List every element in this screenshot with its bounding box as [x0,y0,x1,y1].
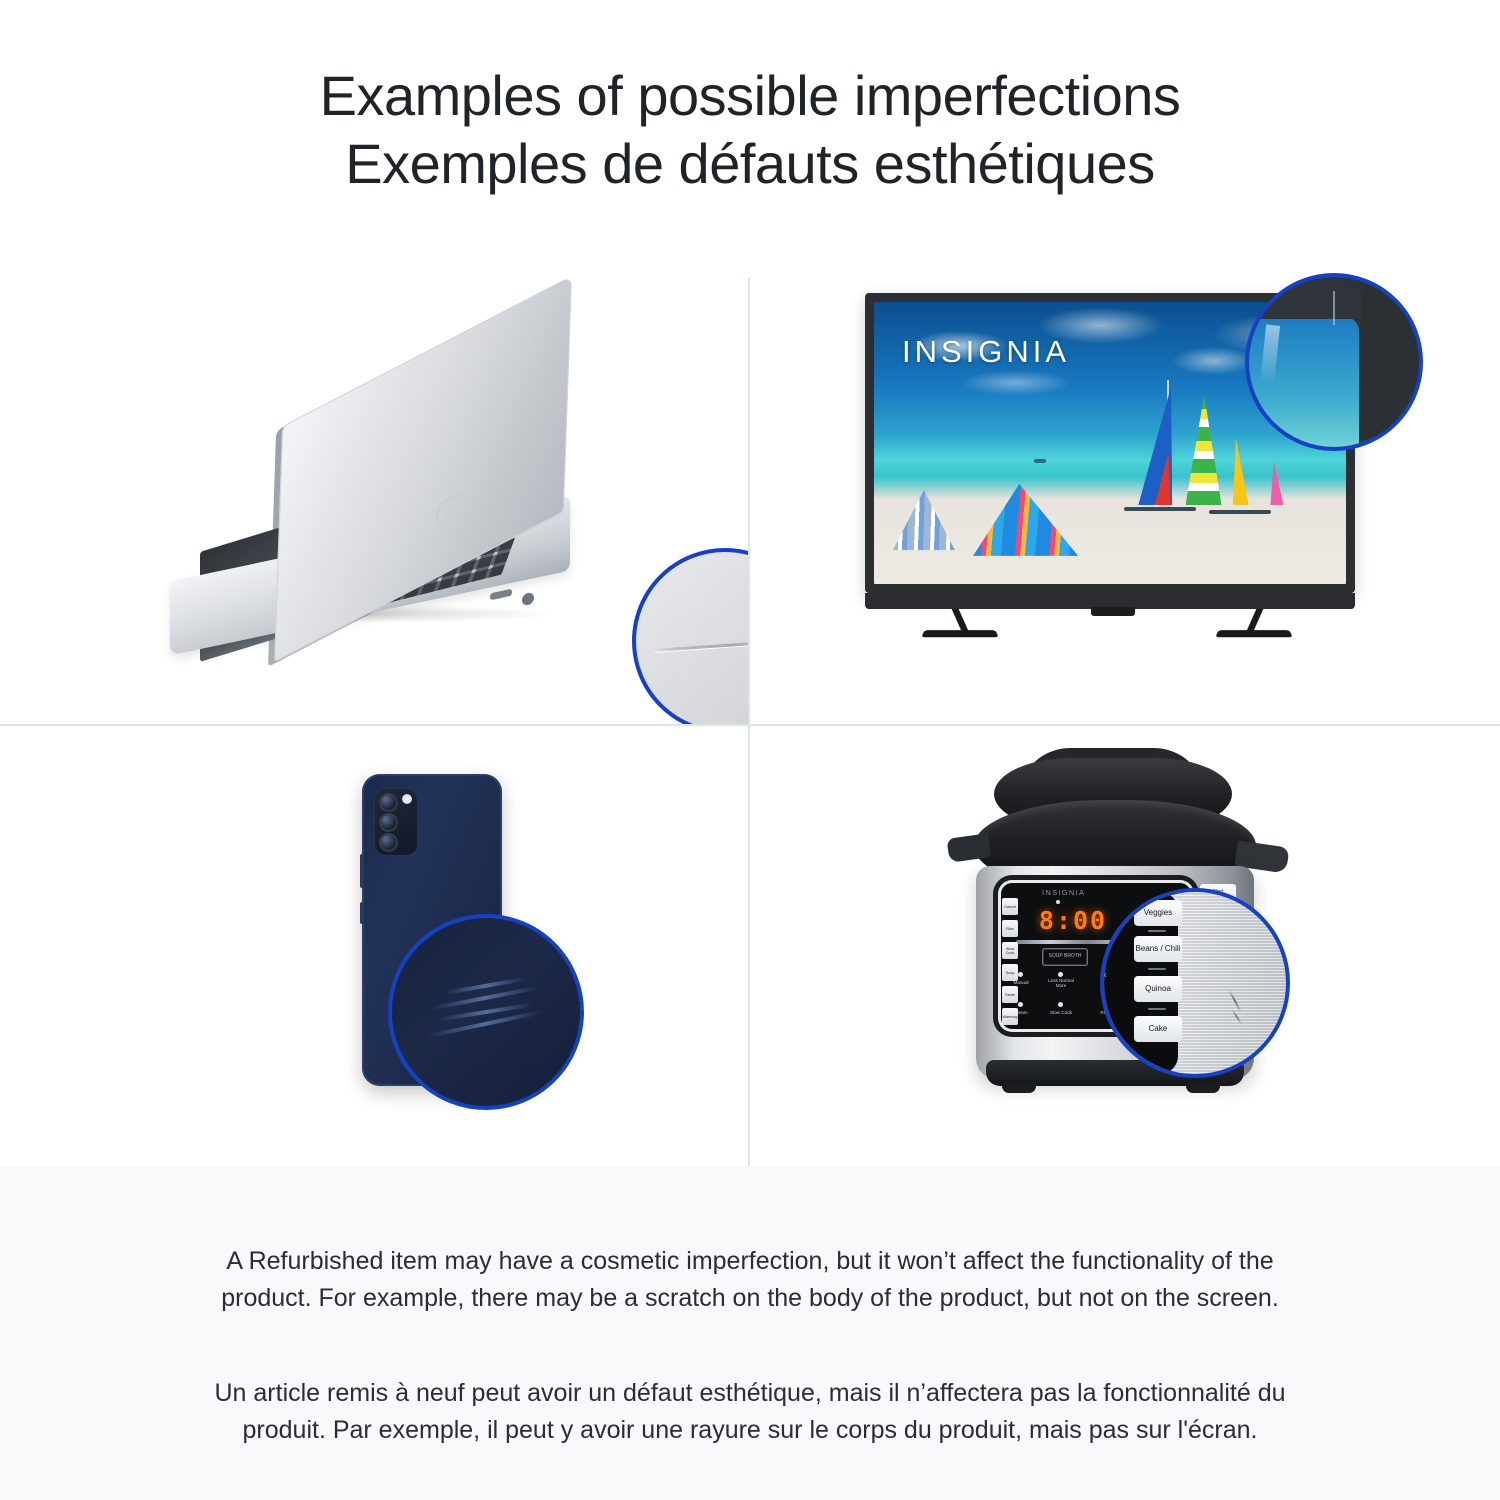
tv-illustration: INSIGNIA [750,258,1500,724]
cooker-button-rice[interactable]: Rice [1002,920,1018,937]
magnified-button-beans-chili[interactable]: Beans / Chili [1134,936,1182,962]
footer-disclaimer: A Refurbished item may have a cosmetic i… [0,1166,1500,1500]
camera-lens-1 [379,793,398,812]
cooker-pressure-select-button[interactable]: SOUP BROTH [1042,948,1088,966]
button-separator [1148,1008,1166,1010]
magnified-bezel-right [1361,289,1419,439]
distant-boat [1034,459,1046,463]
cooker-indicator-dot [1056,900,1060,904]
boat-hull-1 [1124,507,1196,511]
cooker-button-saute[interactable]: Saute [1002,986,1018,1003]
cooker-left-button-column: Cancel Rice Slow Cook Soup Saute Warming [1002,898,1018,1044]
cell-television: INSIGNIA [750,258,1500,724]
magnifier-circle-phone [388,914,584,1110]
button-separator [1148,930,1166,932]
cooker-label: Less Normal More [1048,978,1074,988]
cooker-button-slow-cook[interactable]: Slow Cook [1002,942,1018,959]
scratch-mark [1333,291,1335,325]
laptop-usb-port-icon [490,589,512,601]
laptop-product-image [160,353,600,643]
cell-smartphone [0,726,748,1166]
cooker-product-image: INSIGNIA 8:00 SOUP BROTH Manual [940,748,1320,1138]
cell-pressure-cooker: INSIGNIA 8:00 SOUP BROTH Manual [750,726,1500,1166]
laptop-illustration [0,258,748,724]
disclaimer-paragraph-en: A Refurbished item may have a cosmetic i… [185,1243,1315,1316]
disclaimer-paragraph-fr: Un article remis à neuf peut avoir un dé… [185,1375,1315,1448]
sail-yellow [1233,439,1249,505]
magnifier-circle-tv [1245,273,1423,451]
tv-screen-logo: INSIGNIA [902,334,1070,370]
cooker-foot-right [1186,1082,1220,1093]
cooker-label: Slow Cook [1048,1010,1074,1015]
tv-leg-left [923,609,997,649]
button-separator [1148,968,1166,970]
scratch-mark [654,639,748,652]
boat-hull-2 [1209,510,1271,514]
product-examples-grid: INSIGNIA [0,258,1500,1166]
cooker-lcd-display: 8:00 [1034,906,1112,934]
cooker-foot-left [1002,1082,1036,1093]
magnifier-circle-cooker: Delay Slow Cook Veggies Beans / Chili Qu… [1100,888,1290,1078]
camera-lens-2 [379,813,398,832]
page-title-fr: Exemples de défauts esthétiques [345,130,1154,198]
cell-laptop [0,258,748,724]
magnifier-circle-laptop [632,548,748,724]
cooker-button-dot[interactable] [1018,1002,1023,1007]
cooker-button-cancel[interactable]: Cancel [1002,898,1018,915]
sail-pink [1270,461,1283,505]
cooker-button-dot[interactable] [1018,972,1023,977]
tv-leg-right [1217,609,1291,649]
magnified-button-cake[interactable]: Cake [1134,1016,1182,1042]
header: Examples of possible imperfections Exemp… [0,0,1500,258]
tv-ir-sensor-icon [1091,607,1135,616]
cooker-button-dot[interactable] [1058,1002,1063,1007]
cooker-button-warming[interactable]: Warming [1002,1008,1018,1025]
tv-product-image: INSIGNIA [865,293,1365,653]
cooker-illustration: INSIGNIA 8:00 SOUP BROTH Manual [750,726,1500,1166]
phone-illustration [0,726,748,1166]
phone-product-image [300,774,560,1114]
magnified-button-veggies[interactable]: Veggies [1134,900,1182,926]
sail-beached-2 [973,484,1078,556]
phone-camera-module-icon [374,788,418,856]
magnified-button-quinoa[interactable]: Quinoa [1134,976,1182,1002]
camera-lens-3 [379,833,398,852]
phone-volume-button [360,854,364,888]
cooker-brand-logo: INSIGNIA [1042,888,1085,897]
cooker-button-soup[interactable]: Soup [1002,964,1018,981]
page-title-en: Examples of possible imperfections [320,62,1181,130]
refurbished-imperfections-infographic: Examples of possible imperfections Exemp… [0,0,1500,1500]
magnified-label-slow-cook: Slow Cook [1100,965,1116,979]
phone-power-button [360,902,364,924]
camera-flash-icon [402,794,412,804]
cooker-button-dot[interactable] [1058,972,1063,977]
sail-beached-1 [893,490,955,550]
